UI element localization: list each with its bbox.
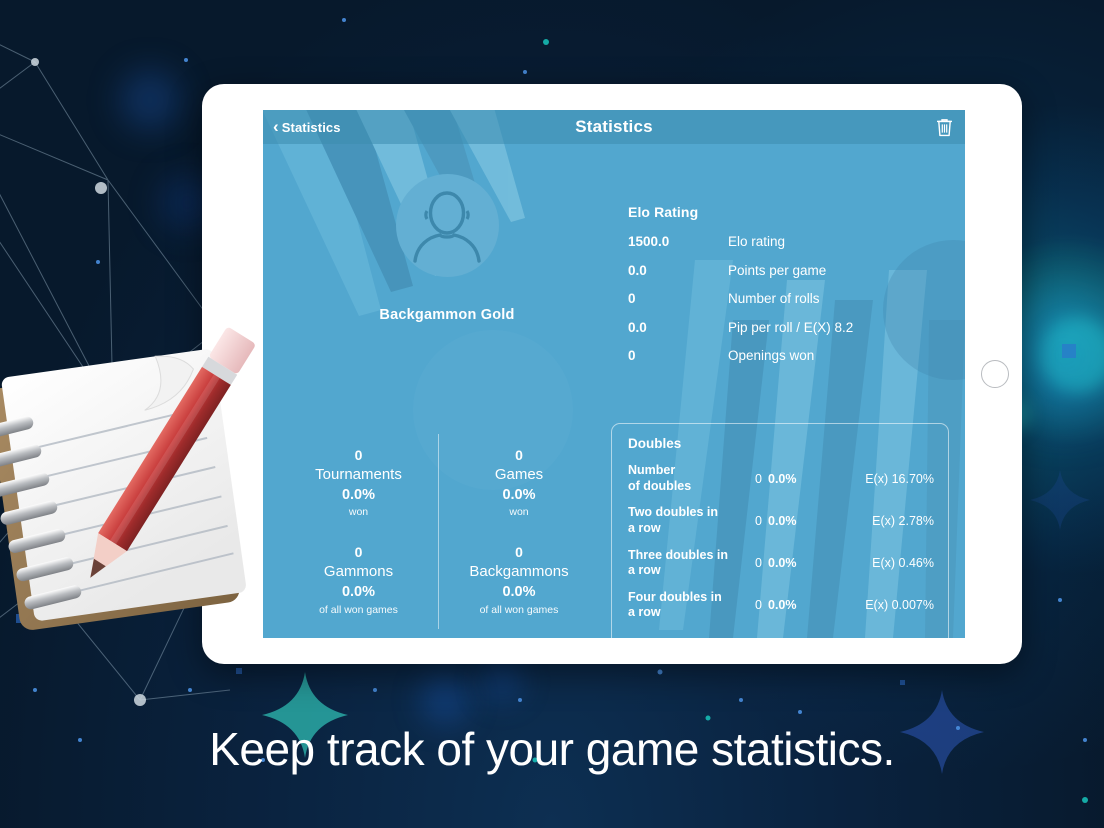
elo-value: 0 bbox=[628, 348, 728, 363]
doubles-row-count: 0 bbox=[746, 514, 762, 528]
app-top-bar: ‹ Statistics Statistics bbox=[263, 110, 965, 144]
elo-label: Openings won bbox=[728, 348, 814, 363]
stat-sublabel: won bbox=[509, 505, 528, 520]
doubles-row-name: Two doubles ina row bbox=[628, 505, 746, 536]
elo-value: 0.0 bbox=[628, 320, 728, 335]
stat-percent: 0.0% bbox=[502, 582, 535, 602]
stat-cell-games: 0 Games 0.0% won bbox=[439, 434, 599, 532]
statistics-content: Backgammon Gold Elo Rating 1500.0 Elo ra… bbox=[263, 144, 965, 638]
doubles-row-expected: E(x) 0.46% bbox=[872, 556, 934, 570]
doubles-row-percent: 0.0% bbox=[768, 472, 797, 486]
chevron-left-icon: ‹ bbox=[273, 118, 279, 135]
profile-block: Backgammon Gold bbox=[297, 174, 597, 323]
doubles-row: Numberof doubles 0 0.0% E(x) 16.70% bbox=[628, 463, 934, 494]
elo-rating-block: Elo Rating 1500.0 Elo rating 0.0 Points … bbox=[628, 204, 958, 377]
doubles-row: Four doubles ina row 0 0.0% E(x) 0.007% bbox=[628, 590, 934, 621]
back-button-label: Statistics bbox=[282, 120, 341, 135]
doubles-row-expected: E(x) 16.70% bbox=[865, 472, 934, 486]
elo-value: 1500.0 bbox=[628, 234, 728, 249]
doubles-row-percent: 0.0% bbox=[768, 556, 797, 570]
doubles-row-count: 0 bbox=[746, 472, 762, 486]
stat-sublabel: of all won games bbox=[480, 603, 559, 618]
stat-percent: 0.0% bbox=[342, 485, 375, 505]
stat-count: 0 bbox=[355, 446, 363, 465]
stat-label: Tournaments bbox=[315, 465, 402, 485]
stat-cell-backgammons: 0 Backgammons 0.0% of all won games bbox=[439, 532, 599, 630]
doubles-panel: Doubles Numberof doubles 0 0.0% E(x) 16.… bbox=[611, 423, 949, 638]
doubles-row-expected: E(x) 2.78% bbox=[872, 514, 934, 528]
doubles-row-percent: 0.0% bbox=[768, 514, 797, 528]
profile-name: Backgammon Gold bbox=[297, 307, 597, 323]
doubles-row-name: Four doubles ina row bbox=[628, 590, 746, 621]
delete-button[interactable] bbox=[933, 115, 955, 139]
elo-label: Elo rating bbox=[728, 234, 785, 249]
stat-label: Games bbox=[495, 465, 543, 485]
elo-label: Pip per roll / E(X) 8.2 bbox=[728, 320, 853, 335]
page-title: Statistics bbox=[263, 117, 965, 137]
avatar[interactable] bbox=[396, 174, 499, 277]
stat-cell-tournaments: 0 Tournaments 0.0% won bbox=[279, 434, 439, 532]
stat-count: 0 bbox=[355, 543, 363, 562]
stat-count: 0 bbox=[515, 543, 523, 562]
home-button[interactable] bbox=[981, 360, 1009, 388]
elo-row: 1500.0 Elo rating bbox=[628, 234, 958, 249]
notepad-pencil-illustration bbox=[0, 312, 288, 642]
back-button[interactable]: ‹ Statistics bbox=[273, 119, 341, 135]
elo-label: Number of rolls bbox=[728, 291, 820, 306]
elo-row: 0 Openings won bbox=[628, 348, 958, 363]
stat-count: 0 bbox=[515, 446, 523, 465]
promo-caption: Keep track of your game statistics. bbox=[0, 722, 1104, 776]
app-screen: ‹ Statistics Statistics Backgammo bbox=[263, 110, 965, 638]
stat-sublabel: of all won games bbox=[319, 603, 398, 618]
user-avatar-icon bbox=[411, 189, 483, 263]
trash-icon bbox=[936, 118, 953, 137]
doubles-row-name: Numberof doubles bbox=[628, 463, 746, 494]
elo-rating-title: Elo Rating bbox=[628, 204, 958, 220]
doubles-row: Two doubles ina row 0 0.0% E(x) 2.78% bbox=[628, 505, 934, 536]
doubles-row: Three doubles ina row 0 0.0% E(x) 0.46% bbox=[628, 548, 934, 579]
stat-sublabel: won bbox=[349, 505, 368, 520]
doubles-row-expected: E(x) 0.007% bbox=[865, 598, 934, 612]
stat-percent: 0.0% bbox=[342, 582, 375, 602]
stat-label: Backgammons bbox=[469, 562, 568, 582]
summary-stats-grid: 0 Tournaments 0.0% won 0 Games 0.0% won … bbox=[279, 434, 599, 629]
doubles-title: Doubles bbox=[628, 436, 934, 451]
elo-value: 0.0 bbox=[628, 263, 728, 278]
doubles-row-percent: 0.0% bbox=[768, 598, 797, 612]
doubles-row-count: 0 bbox=[746, 598, 762, 612]
stat-label: Gammons bbox=[324, 562, 393, 582]
doubles-row-name: Three doubles ina row bbox=[628, 548, 746, 579]
elo-row: 0 Number of rolls bbox=[628, 291, 958, 306]
elo-label: Points per game bbox=[728, 263, 826, 278]
stat-cell-gammons: 0 Gammons 0.0% of all won games bbox=[279, 532, 439, 630]
elo-row: 0.0 Points per game bbox=[628, 263, 958, 278]
elo-value: 0 bbox=[628, 291, 728, 306]
stat-percent: 0.0% bbox=[502, 485, 535, 505]
doubles-row-count: 0 bbox=[746, 556, 762, 570]
elo-row: 0.0 Pip per roll / E(X) 8.2 bbox=[628, 320, 958, 335]
